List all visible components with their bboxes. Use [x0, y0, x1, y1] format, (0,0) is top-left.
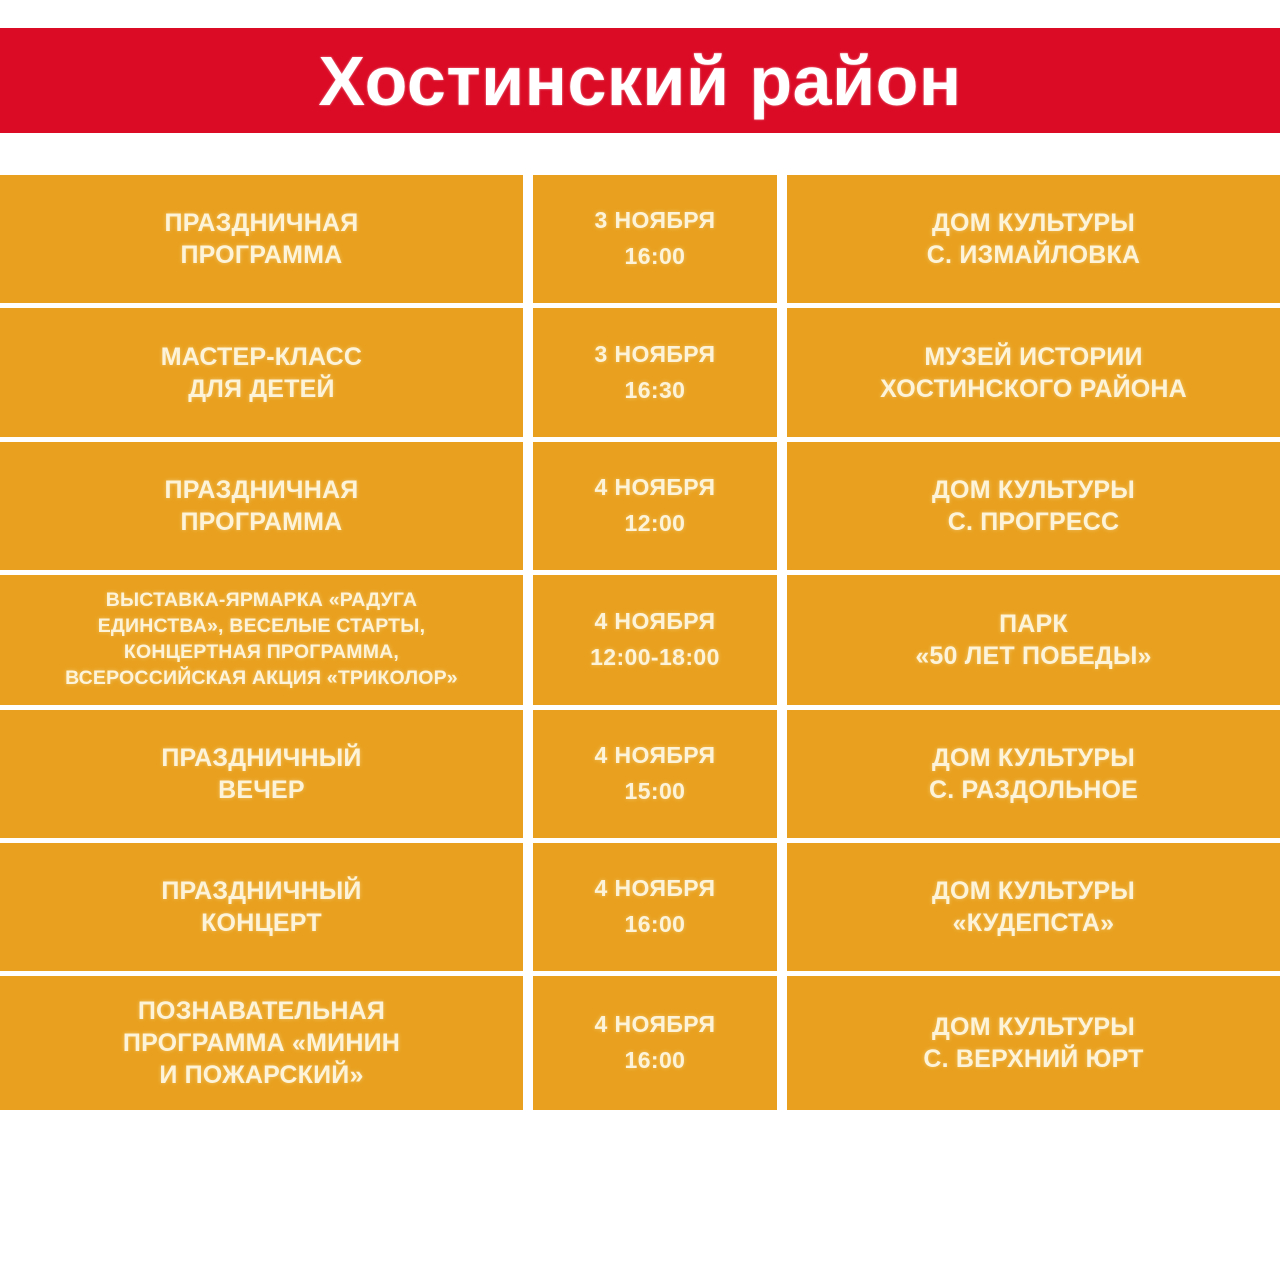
- column-gap: [777, 308, 787, 437]
- place-cell: МУЗЕЙ ИСТОРИИ ХОСТИНСКОГО РАЙОНА: [787, 308, 1280, 437]
- place-cell: ДОМ КУЛЬТУРЫ С. ИЗМАЙЛОВКА: [787, 175, 1280, 303]
- event-cell: ПРАЗДНИЧНАЯ ПРОГРАММА: [0, 442, 523, 570]
- poster-root: Хостинский район ПРАЗДНИЧНАЯ ПРОГРАММА 3…: [0, 0, 1280, 1280]
- event-line: ПРОГРАММА: [165, 506, 359, 538]
- event-line: МАСТЕР-КЛАСС: [161, 341, 362, 373]
- event-line: И ПОЖАРСКИЙ»: [123, 1059, 400, 1091]
- place-line: ХОСТИНСКОГО РАЙОНА: [880, 373, 1187, 405]
- date-cell: 4 НОЯБРЯ 12:00-18:00: [533, 575, 777, 705]
- place-line: ДОМ КУЛЬТУРЫ: [932, 875, 1135, 907]
- date-line: 3 НОЯБРЯ: [594, 337, 715, 373]
- table-row: МАСТЕР-КЛАСС ДЛЯ ДЕТЕЙ 3 НОЯБРЯ 16:30 МУ…: [0, 308, 1280, 437]
- date-cell: 4 НОЯБРЯ 12:00: [533, 442, 777, 570]
- date-line: 4 НОЯБРЯ: [594, 871, 715, 907]
- date-cell: 3 НОЯБРЯ 16:00: [533, 175, 777, 303]
- place-cell: ДОМ КУЛЬТУРЫ С. ВЕРХНИЙ ЮРТ: [787, 976, 1280, 1110]
- date-line: 3 НОЯБРЯ: [594, 203, 715, 239]
- event-line: ПРАЗДНИЧНЫЙ: [161, 742, 361, 774]
- column-gap: [523, 976, 533, 1110]
- table-row: ПРАЗДНИЧНЫЙ КОНЦЕРТ 4 НОЯБРЯ 16:00 ДОМ К…: [0, 843, 1280, 971]
- column-gap: [777, 175, 787, 303]
- event-line: ПОЗНАВАТЕЛЬНАЯ: [123, 995, 400, 1027]
- event-line: ЕДИНСТВА», ВЕСЕЛЫЕ СТАРТЫ,: [65, 614, 458, 640]
- time-line: 16:00: [594, 907, 715, 943]
- date-cell: 4 НОЯБРЯ 16:00: [533, 976, 777, 1110]
- date-line: 4 НОЯБРЯ: [594, 738, 715, 774]
- date-cell: 3 НОЯБРЯ 16:30: [533, 308, 777, 437]
- header-band: Хостинский район: [0, 28, 1280, 133]
- time-line: 12:00-18:00: [590, 640, 720, 676]
- column-gap: [523, 308, 533, 437]
- table-row: ВЫСТАВКА-ЯРМАРКА «РАДУГА ЕДИНСТВА», ВЕСЕ…: [0, 575, 1280, 705]
- table-row: ПОЗНАВАТЕЛЬНАЯ ПРОГРАММА «МИНИН И ПОЖАРС…: [0, 976, 1280, 1110]
- column-gap: [777, 710, 787, 838]
- column-gap: [523, 442, 533, 570]
- column-gap: [523, 843, 533, 971]
- table-row: ПРАЗДНИЧНЫЙ ВЕЧЕР 4 НОЯБРЯ 15:00 ДОМ КУЛ…: [0, 710, 1280, 838]
- place-line: «50 ЛЕТ ПОБЕДЫ»: [915, 640, 1151, 672]
- event-line: ВЕЧЕР: [161, 774, 361, 806]
- place-line: ДОМ КУЛЬТУРЫ: [927, 207, 1140, 239]
- event-line: ПРОГРАММА «МИНИН: [123, 1027, 400, 1059]
- time-line: 15:00: [594, 774, 715, 810]
- date-cell: 4 НОЯБРЯ 15:00: [533, 710, 777, 838]
- event-line: ВСЕРОССИЙСКАЯ АКЦИЯ «ТРИКОЛОР»: [65, 666, 458, 692]
- column-gap: [523, 175, 533, 303]
- event-line: ДЛЯ ДЕТЕЙ: [161, 373, 362, 405]
- place-cell: ДОМ КУЛЬТУРЫ С. ПРОГРЕСС: [787, 442, 1280, 570]
- column-gap: [523, 575, 533, 705]
- place-cell: ПАРК «50 ЛЕТ ПОБЕДЫ»: [787, 575, 1280, 705]
- column-gap: [777, 843, 787, 971]
- place-line: МУЗЕЙ ИСТОРИИ: [880, 341, 1187, 373]
- event-line: ВЫСТАВКА-ЯРМАРКА «РАДУГА: [65, 588, 458, 614]
- event-line: КОНЦЕРТ: [161, 907, 361, 939]
- place-line: «КУДЕПСТА»: [932, 907, 1135, 939]
- event-cell: ВЫСТАВКА-ЯРМАРКА «РАДУГА ЕДИНСТВА», ВЕСЕ…: [0, 575, 523, 705]
- page-title: Хостинский район: [318, 46, 961, 116]
- event-line: ПРОГРАММА: [165, 239, 359, 271]
- date-line: 4 НОЯБРЯ: [590, 604, 720, 640]
- event-line: ПРАЗДНИЧНАЯ: [165, 474, 359, 506]
- event-cell: ПРАЗДНИЧНЫЙ КОНЦЕРТ: [0, 843, 523, 971]
- place-line: С. ИЗМАЙЛОВКА: [927, 239, 1140, 271]
- place-line: ДОМ КУЛЬТУРЫ: [932, 474, 1135, 506]
- time-line: 16:00: [594, 239, 715, 275]
- place-line: С. ВЕРХНИЙ ЮРТ: [923, 1043, 1143, 1075]
- time-line: 12:00: [594, 506, 715, 542]
- event-line: КОНЦЕРТНАЯ ПРОГРАММА,: [65, 640, 458, 666]
- event-cell: ПОЗНАВАТЕЛЬНАЯ ПРОГРАММА «МИНИН И ПОЖАРС…: [0, 976, 523, 1110]
- column-gap: [777, 976, 787, 1110]
- date-cell: 4 НОЯБРЯ 16:00: [533, 843, 777, 971]
- table-row: ПРАЗДНИЧНАЯ ПРОГРАММА 3 НОЯБРЯ 16:00 ДОМ…: [0, 175, 1280, 303]
- place-line: ДОМ КУЛЬТУРЫ: [929, 742, 1138, 774]
- column-gap: [523, 710, 533, 838]
- place-cell: ДОМ КУЛЬТУРЫ «КУДЕПСТА»: [787, 843, 1280, 971]
- place-line: С. ПРОГРЕСС: [932, 506, 1135, 538]
- column-gap: [777, 442, 787, 570]
- date-line: 4 НОЯБРЯ: [594, 1007, 715, 1043]
- place-cell: ДОМ КУЛЬТУРЫ С. РАЗДОЛЬНОЕ: [787, 710, 1280, 838]
- event-cell: ПРАЗДНИЧНЫЙ ВЕЧЕР: [0, 710, 523, 838]
- column-gap: [777, 575, 787, 705]
- event-cell: МАСТЕР-КЛАСС ДЛЯ ДЕТЕЙ: [0, 308, 523, 437]
- table-row: ПРАЗДНИЧНАЯ ПРОГРАММА 4 НОЯБРЯ 12:00 ДОМ…: [0, 442, 1280, 570]
- event-line: ПРАЗДНИЧНЫЙ: [161, 875, 361, 907]
- time-line: 16:00: [594, 1043, 715, 1079]
- place-line: С. РАЗДОЛЬНОЕ: [929, 774, 1138, 806]
- place-line: ДОМ КУЛЬТУРЫ: [923, 1011, 1143, 1043]
- event-cell: ПРАЗДНИЧНАЯ ПРОГРАММА: [0, 175, 523, 303]
- schedule-table: ПРАЗДНИЧНАЯ ПРОГРАММА 3 НОЯБРЯ 16:00 ДОМ…: [0, 175, 1280, 1110]
- event-line: ПРАЗДНИЧНАЯ: [165, 207, 359, 239]
- place-line: ПАРК: [915, 608, 1151, 640]
- date-line: 4 НОЯБРЯ: [594, 470, 715, 506]
- time-line: 16:30: [594, 373, 715, 409]
